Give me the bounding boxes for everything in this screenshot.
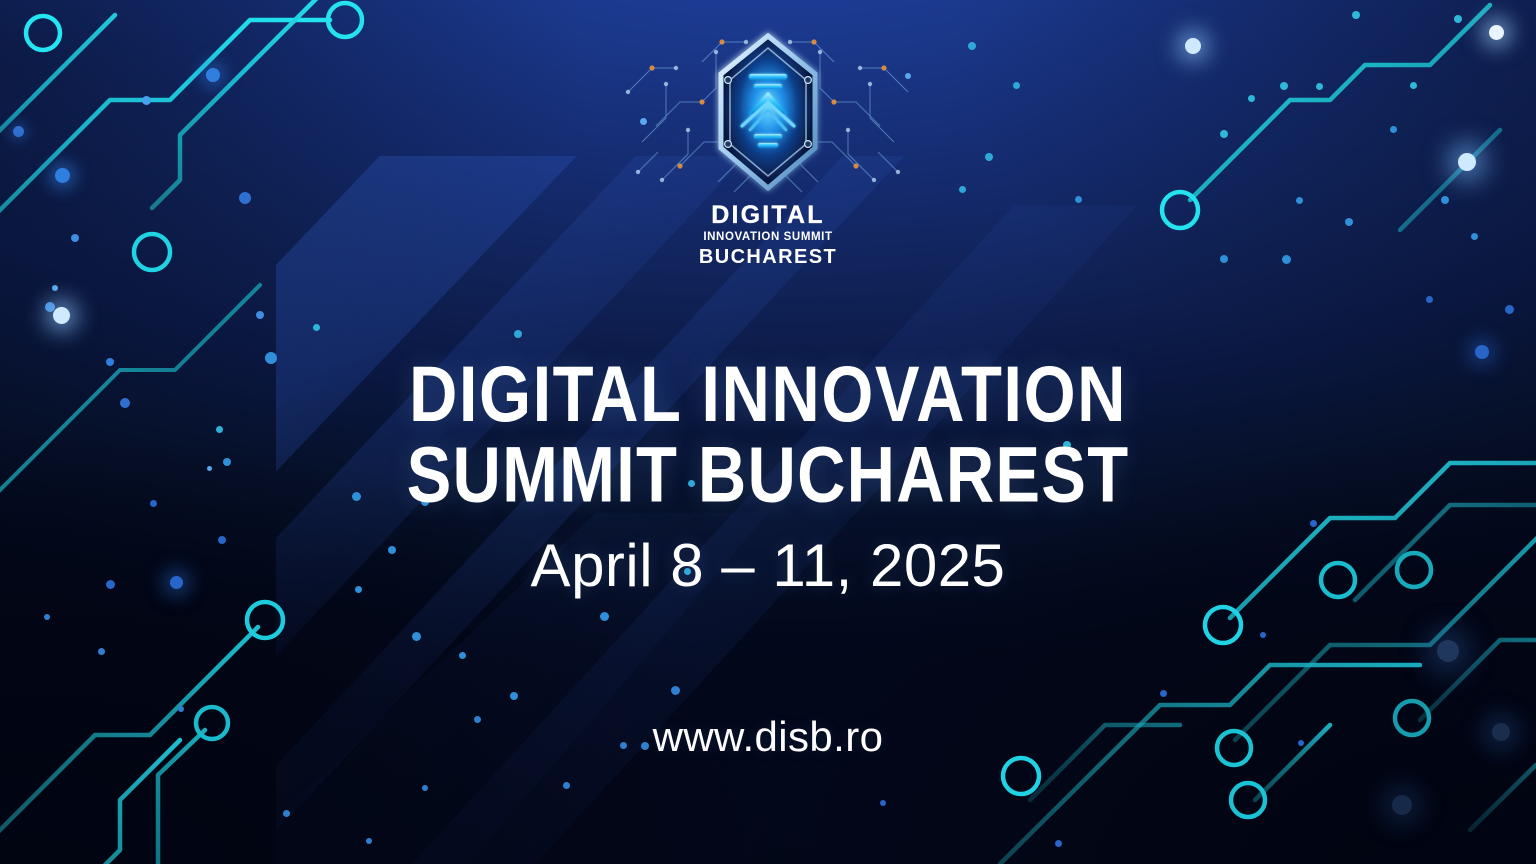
poster-content: DIGITAL INNOVATION SUMMIT BUCHAREST DIGI… bbox=[0, 0, 1536, 864]
event-website-url[interactable]: www.disb.ro bbox=[0, 713, 1536, 761]
event-date: April 8 – 11, 2025 bbox=[0, 531, 1536, 600]
headline-line-1: DIGITAL INNOVATION bbox=[0, 355, 1536, 436]
event-poster: DIGITAL INNOVATION SUMMIT BUCHAREST DIGI… bbox=[0, 0, 1536, 864]
hexagon-network-emblem-icon bbox=[618, 22, 918, 207]
headline-line-2: SUMMIT BUCHAREST bbox=[0, 436, 1536, 517]
logo-line-innovation-summit: INNOVATION SUMMIT bbox=[703, 232, 832, 244]
logo-emblem bbox=[618, 22, 918, 207]
page-title: DIGITAL INNOVATION SUMMIT BUCHAREST bbox=[0, 355, 1536, 516]
event-logo: DIGITAL INNOVATION SUMMIT BUCHAREST bbox=[618, 22, 918, 267]
logo-wordmark: DIGITAL INNOVATION SUMMIT BUCHAREST bbox=[699, 203, 837, 267]
logo-line-bucharest: BUCHAREST bbox=[699, 247, 837, 267]
